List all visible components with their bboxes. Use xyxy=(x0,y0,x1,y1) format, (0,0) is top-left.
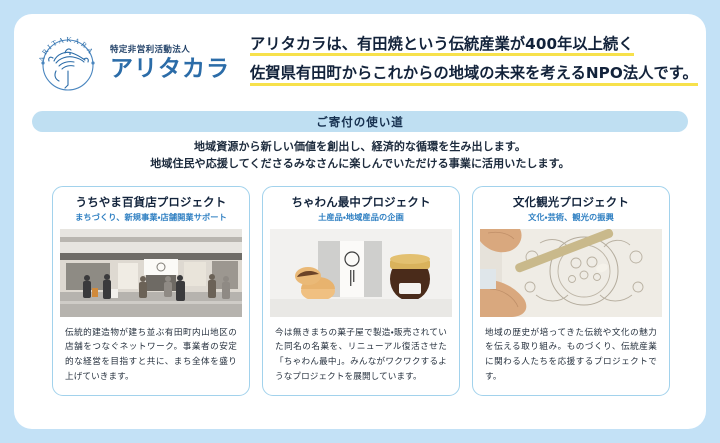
headline: アリタカラは、有田焼という伝統産業が400年以上続く 佐賀県有田町からこれからの… xyxy=(250,36,698,95)
card-subtitle: 土産品・地域産品の企画 xyxy=(269,213,453,222)
card-body-text: 今は無きまちの菓子屋で製造・販売されていた同名の名菓を、リニューアル復活させた「… xyxy=(263,317,459,391)
section-banner: ご寄付の使い道 xyxy=(32,111,688,132)
headline-line-2: 佐賀県有田町からこれからの地域の未来を考えるNPO法人です。 xyxy=(250,65,698,85)
card-header: ちゃわん最中プロジェクト 土産品・地域産品の企画 xyxy=(263,187,459,229)
project-card[interactable]: ちゃわん最中プロジェクト 土産品・地域産品の企画 xyxy=(262,186,460,396)
logo-name: アリタカラ xyxy=(110,57,230,81)
card-header: うちやま百貨店プロジェクト まちづくり、新規事業・店舗開業サポート xyxy=(53,187,249,229)
card-title: ちゃわん最中プロジェクト xyxy=(269,196,453,209)
porcelain-painting-photo xyxy=(480,229,662,317)
card-subtitle: まちづくり、新規事業・店舗開業サポート xyxy=(59,213,243,222)
content-panel: ARITAKARA xyxy=(14,14,706,429)
project-card[interactable]: 文化観光プロジェクト 文化・芸術、観光の振興 xyxy=(472,186,670,396)
section-lead: 地域資源から新しい価値を創出し、経済的な循環を生み出します。 地域住民や応援して… xyxy=(14,138,706,172)
card-body-text: 地域の歴史が培ってきた伝統や文化の魅力を伝える取り組み。ものづくり、伝統産業に関… xyxy=(473,317,669,391)
card-body-text: 伝統的建造物が建ち並ぶ有田町内山地区の店舗をつなぐネットワーク。事業者の安定的な… xyxy=(53,317,249,391)
logo-kicker: 特定非営利活動法人 xyxy=(110,45,230,55)
site-logo[interactable]: ARITAKARA xyxy=(32,26,242,100)
headline-line-1: アリタカラは、有田焼という伝統産業が400年以上続く xyxy=(250,36,634,56)
crane-circle-logo-icon: ARITAKARA xyxy=(32,27,104,99)
logo-wordmark: 特定非営利活動法人 アリタカラ xyxy=(110,45,230,81)
page-header: ARITAKARA xyxy=(14,14,706,106)
project-card-list: うちやま百貨店プロジェクト まちづくり、新規事業・店舗開業サポート xyxy=(52,186,672,396)
project-card[interactable]: うちやま百貨店プロジェクト まちづくり、新規事業・店舗開業サポート xyxy=(52,186,250,396)
card-header: 文化観光プロジェクト 文化・芸術、観光の振興 xyxy=(473,187,669,229)
section-banner-title: ご寄付の使い道 xyxy=(316,114,404,130)
card-title: 文化観光プロジェクト xyxy=(479,196,663,209)
card-title: うちやま百貨店プロジェクト xyxy=(59,196,243,209)
section-lead-line-2: 地域住民や応援してくださるみなさんに楽しんでいただける事業に活用いたします。 xyxy=(14,155,706,172)
monaka-giftbox-photo xyxy=(270,229,452,317)
card-subtitle: 文化・芸術、観光の振興 xyxy=(479,213,663,222)
machiya-streetscape-photo xyxy=(60,229,242,317)
section-lead-line-1: 地域資源から新しい価値を創出し、経済的な循環を生み出します。 xyxy=(14,138,706,155)
